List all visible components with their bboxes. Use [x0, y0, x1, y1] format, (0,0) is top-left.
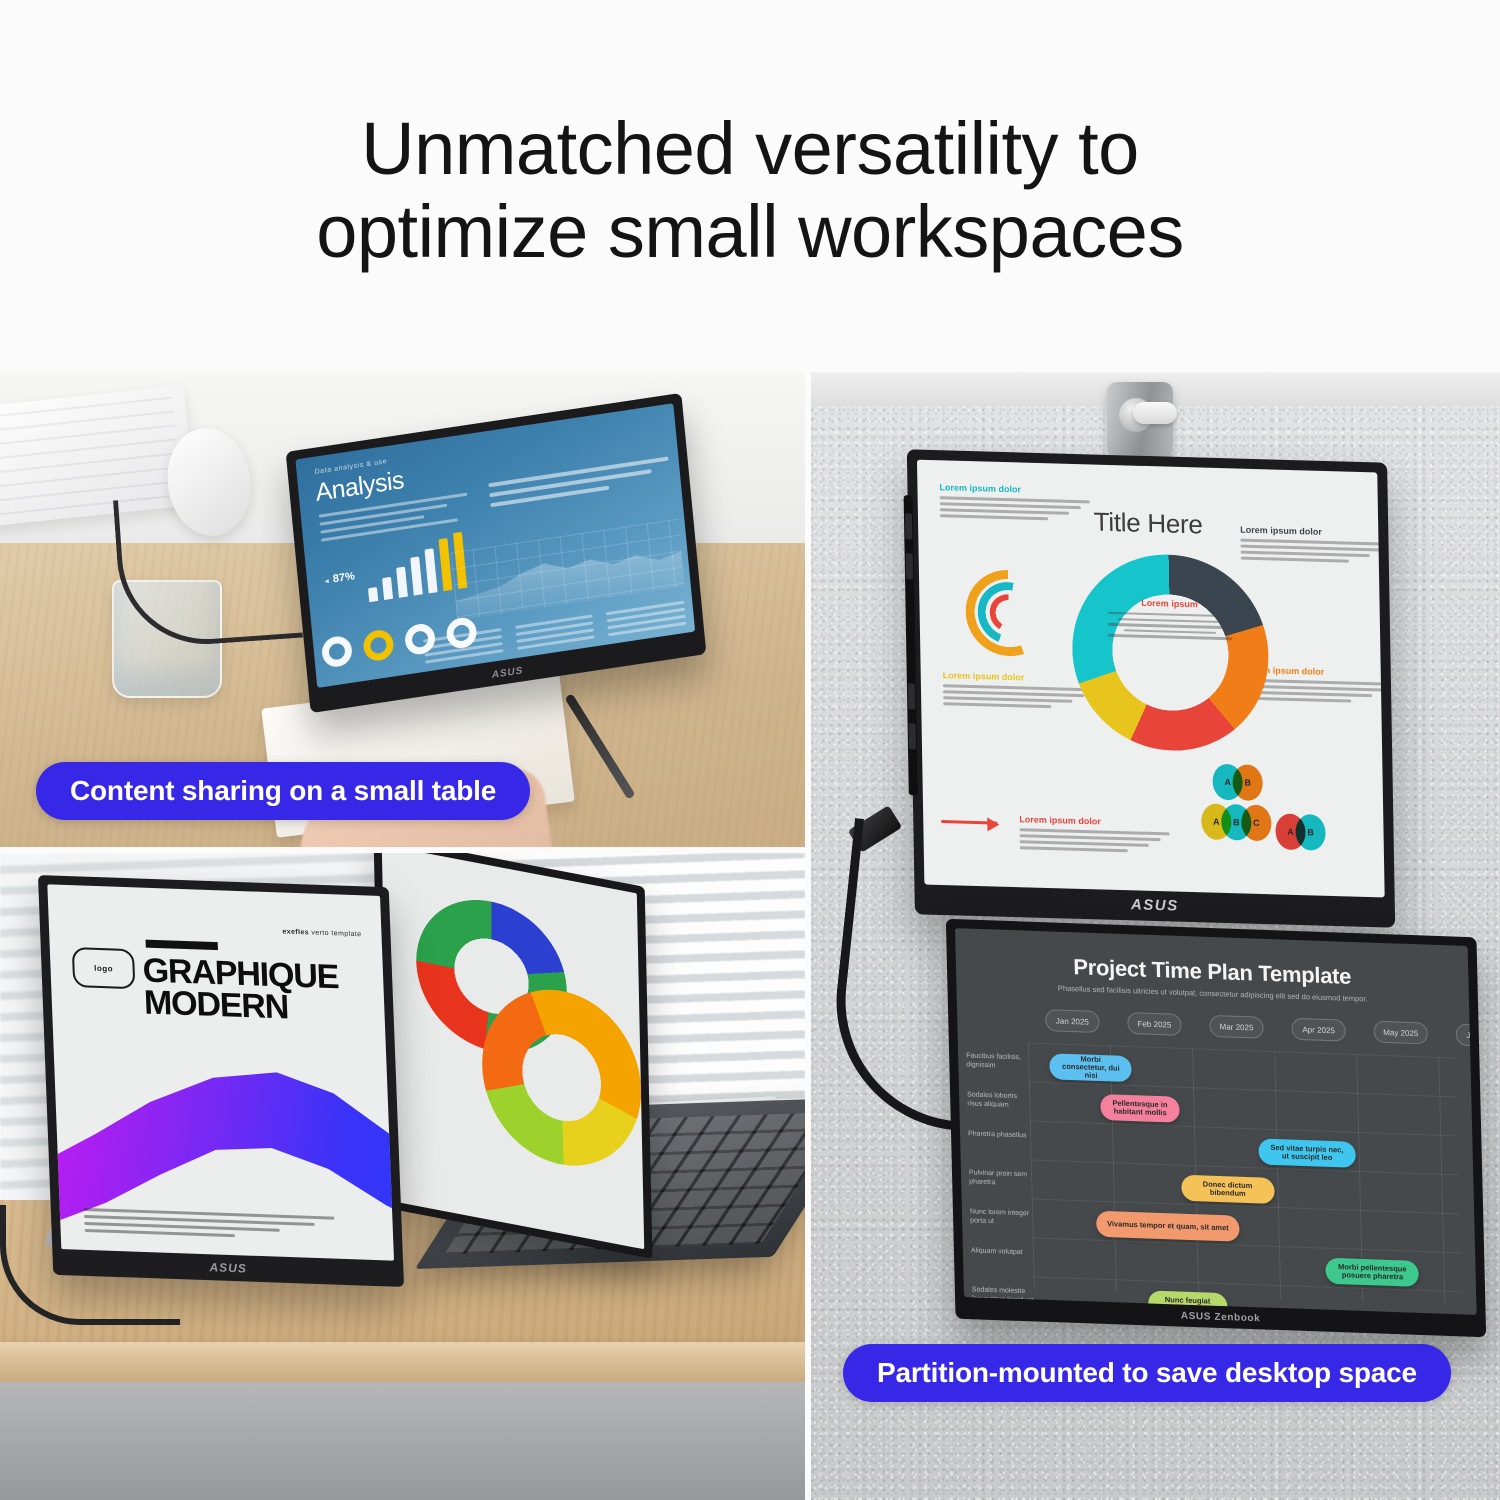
gantt-month-pill: Apr 2025 — [1291, 1018, 1346, 1042]
main-donut-chart — [1071, 552, 1271, 753]
gradient-wave-artwork — [47, 1034, 394, 1238]
marketing-image: Unmatched versatility to optimize small … — [0, 0, 1500, 1500]
asus-logo: ASUS — [209, 1260, 247, 1275]
venn-diagram-bottom-right: A B — [1275, 813, 1326, 850]
caption-content-sharing: Content sharing on a small table — [36, 762, 530, 820]
callout-heading: Lorem ipsum dolor — [939, 482, 1089, 496]
gantt-month-pill: Jun 2025 — [1456, 1023, 1477, 1047]
headline-line-2: optimize small workspaces — [0, 191, 1500, 274]
callout-top-left: Lorem ipsum dolor — [939, 482, 1090, 524]
panel-extended-monitor: logo exefles verto template GRAPHIQUE MO… — [0, 853, 805, 1500]
caption-label: Partition-mounted to save desktop space — [877, 1357, 1417, 1389]
gantt-screen: Project Time Plan Template Phasellus sed… — [955, 928, 1477, 1315]
floor — [0, 1382, 805, 1500]
photo-grid: Data analysis & use Analysis 87% — [0, 372, 1500, 1500]
gantt-row-label: Faucibus facilisis, dignissim — [966, 1044, 1033, 1085]
caption-label: Content sharing on a small table — [70, 775, 496, 807]
gantt-bars: Morbi consectetur, dui nisiPellentesque … — [1028, 1047, 1462, 1305]
title-rule — [146, 940, 218, 951]
gantt-row-label: Sodales lobortis risus aliquam — [967, 1083, 1034, 1124]
donut-ring-highlight — [362, 628, 395, 662]
gantt-row-labels: Faucibus facilisis, dignissimSodales lob… — [966, 1044, 1039, 1315]
callout-bottom-left: Lorem ipsum dolor — [943, 670, 1094, 712]
monitor-screen: Data analysis & use Analysis 87% — [295, 403, 695, 688]
desk-edge — [0, 1342, 805, 1382]
asus-zenbook-logo: ASUS Zenbook — [1181, 1311, 1261, 1325]
dashboard-percent: 87% — [323, 570, 356, 587]
donut-ring — [321, 634, 354, 668]
venn-diagram-top: A B — [1212, 764, 1263, 801]
gantt-title: Project Time Plan Template — [1073, 954, 1351, 990]
gantt-row-label: Sodales molestie lacus risus tincidunt — [972, 1278, 1039, 1315]
monitor-screen-primary: logo exefles verto template GRAPHIQUE MO… — [47, 884, 394, 1260]
red-arrow-annotation — [941, 820, 997, 825]
callout-top-right: Lorem ipsum dolor — [1240, 525, 1385, 567]
gantt-month-pill: May 2025 — [1373, 1021, 1428, 1045]
gantt-month-pill: Jan 2025 — [1045, 1009, 1100, 1033]
small-donut-inner — [989, 594, 1028, 633]
infographic-title: Title Here — [1093, 507, 1202, 541]
poster-title-line-2: MODERN — [143, 983, 289, 1027]
venn-circle-c: C — [1241, 804, 1272, 841]
gantt-row-label: Aliquam volutpat — [971, 1239, 1038, 1280]
gantt-row-label: Nunc lorem integer porta ut — [970, 1200, 1037, 1241]
gantt-row-label: Pharetra phasellus — [968, 1122, 1035, 1163]
asus-logo: ASUS — [1131, 896, 1179, 914]
page-title: Unmatched versatility to optimize small … — [0, 108, 1500, 274]
portable-monitor-secondary — [374, 853, 653, 1259]
monitor-screen-infographic: Title Here Lorem ipsum dolor Lorem ipsum… — [917, 460, 1385, 898]
callout-bottom-center: Lorem ipsum dolor — [1019, 814, 1170, 856]
headline-line-1: Unmatched versatility to — [361, 107, 1139, 190]
poster-body-text — [84, 1208, 336, 1245]
monitor-screen-secondary — [382, 853, 645, 1249]
gantt-task-bar: Morbi pellentesque posuere pharetra — [1326, 1258, 1419, 1287]
gantt-task-bar: Pellentesque in habitant mollis — [1100, 1094, 1179, 1123]
gantt-task-bar: Donec dictum bibendum — [1181, 1175, 1274, 1204]
gantt-task-bar: Vivamus tempor et quam, sit amet — [1096, 1211, 1239, 1242]
gantt-month-pill: Mar 2025 — [1209, 1015, 1264, 1039]
venn-circle-b: B — [1232, 764, 1263, 801]
kicker-light: verto template — [311, 929, 361, 938]
gantt-task-bar: Sed vitae turpis nec, ut suscipit leo — [1259, 1138, 1356, 1167]
kicker-bold: exefles — [282, 928, 309, 936]
gantt-month-pill: Feb 2025 — [1127, 1012, 1182, 1036]
laptop-display: Project Time Plan Template Phasellus sed… — [946, 919, 1486, 1337]
dashboard-side-lines — [488, 456, 671, 513]
callout-heading: Lorem ipsum dolor — [1240, 525, 1385, 539]
panel-partition-mounted: Title Here Lorem ipsum dolor Lorem ipsum… — [811, 372, 1500, 1500]
venn-circle-b: B — [1295, 814, 1326, 851]
callout-heading: Lorem ipsum dolor — [943, 670, 1093, 684]
gantt-month-headers: Jan 2025Feb 2025Mar 2025Apr 2025May 2025… — [1045, 1009, 1477, 1047]
gantt-task-bar: Morbi consectetur, dui nisi — [1050, 1053, 1133, 1082]
caption-partition-mounted: Partition-mounted to save desktop space — [843, 1344, 1451, 1402]
gantt-row-label: Pulvinar proin sem pharetra — [969, 1161, 1036, 1202]
panel-content-sharing: Data analysis & use Analysis 87% — [0, 372, 805, 847]
callout-heading: Lorem ipsum dolor — [1019, 814, 1169, 828]
donut-center-label: Lorem ipsum — [1097, 597, 1242, 644]
logo-badge: logo — [72, 947, 136, 989]
asus-logo: ASUS — [491, 665, 524, 681]
venn-diagram-bottom-left: A B C — [1201, 803, 1272, 841]
template-kicker: exefles verto template — [282, 928, 361, 938]
portable-monitor-primary: logo exefles verto template GRAPHIQUE MO… — [38, 875, 404, 1287]
